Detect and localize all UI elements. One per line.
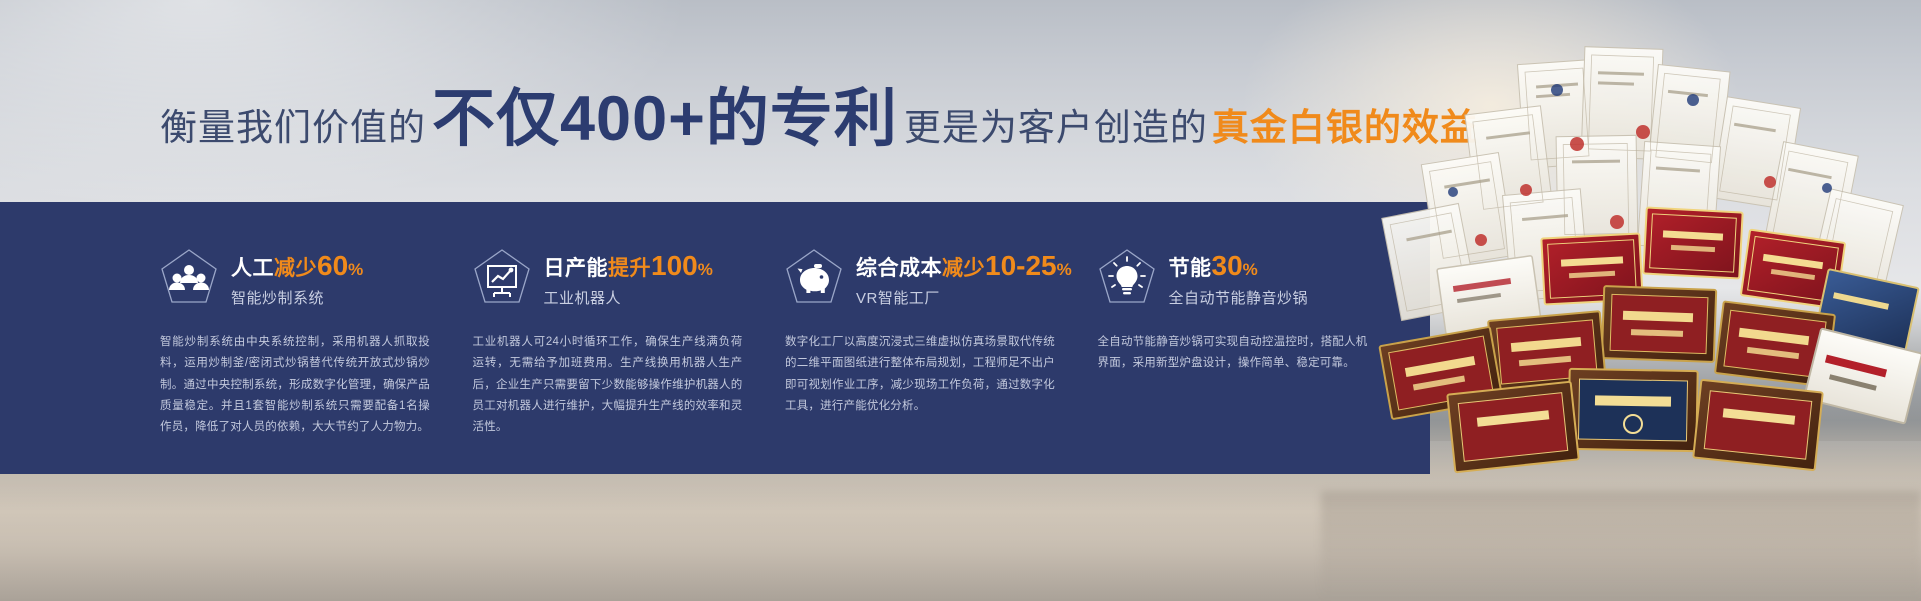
feature-header: 节能30% 全自动节能静音炒锅 [1098, 248, 1385, 310]
feature-header: 人工减少60% 智能炒制系统 [160, 248, 447, 310]
features-panel: 人工减少60% 智能炒制系统 智能炒制系统由中央系统控制，采用机器人抓取投料，运… [0, 202, 1430, 474]
feature-title: 综合成本减少10-25% [856, 250, 1072, 282]
certificate-reflection [1321, 491, 1921, 601]
feature-title: 日产能提升100% [544, 250, 714, 282]
headline-emphasis: 不仅400+的专利 [426, 88, 904, 151]
feature-card-capacity: 日产能提升100% 工业机器人 工业机器人可24小时循环工作，确保生产线满负荷运… [473, 202, 786, 474]
headline-lead: 衡量我们价值的 [160, 97, 426, 151]
feature-body: 智能炒制系统由中央系统控制，采用机器人抓取投料，运用炒制釜/密闭式炒锅替代传统开… [160, 332, 430, 438]
feature-card-energy: 节能30% 全自动节能静音炒锅 全自动节能静音炒锅可实现自动控温控时，搭配人机界… [1098, 202, 1411, 474]
feature-body: 工业机器人可24小时循环工作，确保生产线满负荷运转，无需给予加班费用。生产线换用… [473, 332, 743, 438]
headline-middle: 更是为客户创造的 [904, 97, 1208, 151]
feature-header: 日产能提升100% 工业机器人 [473, 248, 760, 310]
feature-subtitle: 工业机器人 [544, 287, 714, 308]
feature-card-cost: 综合成本减少10-25% VR智能工厂 数字化工厂以高度沉浸式三维虚拟仿真场景取… [785, 202, 1098, 474]
feature-subtitle: 全自动节能静音炒锅 [1169, 287, 1309, 308]
chart-presentation-icon [473, 248, 531, 310]
banner-stage: 衡量我们价值的 不仅400+的专利 更是为客户创造的 真金白银的效益 [0, 0, 1921, 601]
people-group-icon [160, 248, 218, 310]
feature-body: 数字化工厂以高度沉浸式三维虚拟仿真场景取代传统的二维平面图纸进行整体布局规划，工… [785, 332, 1055, 417]
feature-header: 综合成本减少10-25% VR智能工厂 [785, 248, 1072, 310]
feature-title: 节能30% [1169, 250, 1309, 282]
feature-title: 人工减少60% [231, 250, 364, 282]
feature-body: 全自动节能静音炒锅可实现自动控温控时，搭配人机界面，采用新型炉盘设计，操作简单、… [1098, 332, 1368, 375]
page-title: 衡量我们价值的 不仅400+的专利 更是为客户创造的 真金白银的效益 [160, 88, 1478, 151]
headline-accent: 真金白银的效益 [1208, 97, 1478, 151]
feature-card-labor: 人工减少60% 智能炒制系统 智能炒制系统由中央系统控制，采用机器人抓取投料，运… [160, 202, 473, 474]
feature-subtitle: VR智能工厂 [856, 287, 1072, 308]
lightbulb-icon [1098, 248, 1156, 310]
feature-subtitle: 智能炒制系统 [231, 287, 364, 308]
piggy-bank-icon [785, 248, 843, 310]
